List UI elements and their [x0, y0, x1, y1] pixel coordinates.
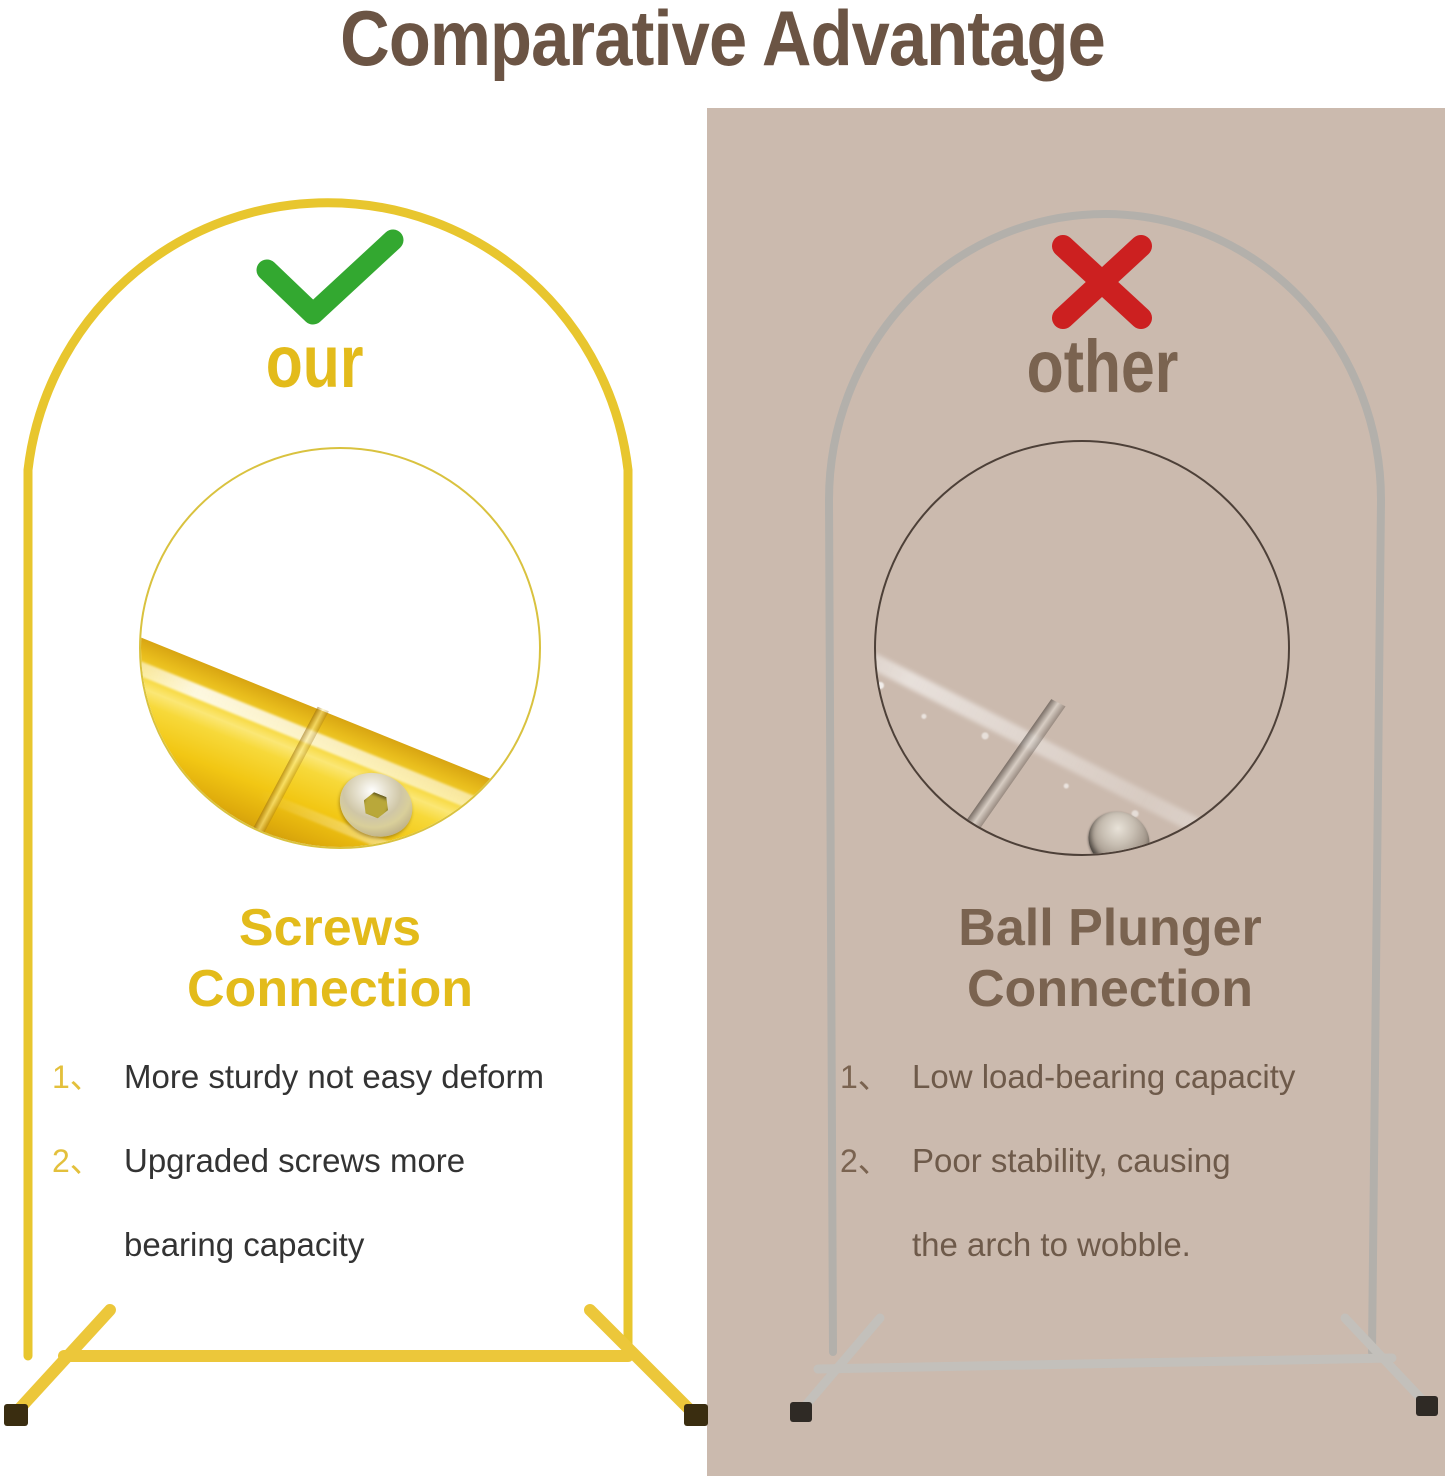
- comparison-infographic: Comparative Advantage: [0, 0, 1445, 1476]
- list-item-text: Poor stability, causing: [912, 1142, 1400, 1180]
- tube-highlight: [139, 625, 541, 849]
- right-drawback-list: 1、 Low load-bearing capacity 2、 Poor sta…: [840, 1058, 1400, 1264]
- check-mark-icon: [255, 228, 405, 328]
- our-label: our: [266, 325, 364, 399]
- left-heading: Screws Connection: [20, 898, 640, 1021]
- other-label: other: [1027, 330, 1179, 404]
- list-item-number: 1、: [840, 1059, 912, 1096]
- yellow-tube-joint: [141, 449, 539, 847]
- grey-tube-joint: [876, 442, 1288, 854]
- list-item: 1、 More sturdy not easy deform: [52, 1058, 652, 1096]
- hex-socket: [360, 790, 393, 821]
- page-title: Comparative Advantage: [87, 0, 1359, 82]
- list-item: 2、 Upgraded screws more: [52, 1142, 652, 1180]
- screws-connection-photo: [139, 447, 541, 849]
- list-item-text: Upgraded screws more: [124, 1142, 652, 1180]
- list-item-text: Low load-bearing capacity: [912, 1058, 1400, 1096]
- list-item-number: 2、: [52, 1143, 124, 1180]
- yellow-tube: [139, 604, 541, 849]
- list-item-number: 1、: [52, 1059, 124, 1096]
- tube-highlight: [874, 613, 1290, 856]
- list-item-text: bearing capacity: [124, 1226, 652, 1264]
- list-item-text: More sturdy not easy deform: [124, 1058, 652, 1096]
- list-item: 2、 Poor stability, causing: [840, 1142, 1400, 1180]
- ball-plunger-photo: [874, 440, 1290, 856]
- right-heading: Ball Plunger Connection: [830, 898, 1390, 1021]
- grey-tube: [874, 581, 1290, 856]
- left-benefit-list: 1、 More sturdy not easy deform 2、 Upgrad…: [52, 1058, 652, 1264]
- list-item-continuation: the arch to wobble.: [840, 1226, 1400, 1264]
- cross-mark-icon: [1047, 232, 1157, 332]
- list-item: 1、 Low load-bearing capacity: [840, 1058, 1400, 1096]
- list-item-number: 2、: [840, 1143, 912, 1180]
- list-item-text: the arch to wobble.: [912, 1226, 1400, 1264]
- list-item-continuation: bearing capacity: [52, 1226, 652, 1264]
